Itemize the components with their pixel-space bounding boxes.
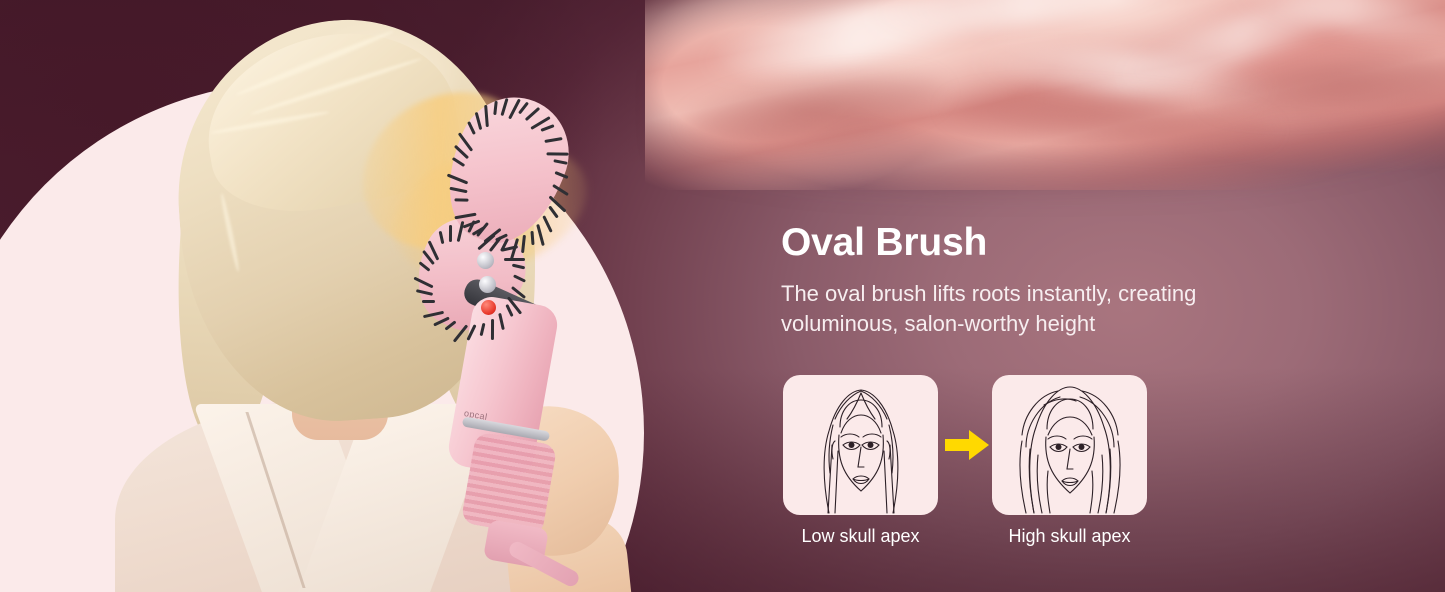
product-feature-banner: opcal Oval Brush The oval brush lifts ro…	[0, 0, 1445, 592]
brush-bristle	[422, 300, 435, 303]
face-card-high	[992, 375, 1147, 515]
brush-bristle	[531, 231, 535, 245]
heat-button[interactable]	[479, 276, 496, 293]
face-card-low	[783, 375, 938, 515]
brush-bristle	[449, 225, 452, 242]
product-image: opcal	[0, 0, 620, 592]
silk-fabric-image	[645, 0, 1445, 190]
face-low-apex-icon	[783, 375, 938, 515]
speed-button[interactable]	[477, 252, 494, 269]
brush-bristle	[537, 224, 546, 246]
brush-bristle	[491, 319, 494, 340]
skull-apex-comparison: Low skull apex	[783, 375, 1151, 560]
comparison-card-high: High skull apex	[992, 375, 1147, 547]
feature-description: The oval brush lifts roots instantly, cr…	[781, 279, 1271, 338]
face-high-apex-icon	[992, 375, 1147, 515]
brush-bristle	[521, 235, 526, 253]
arrow-right-icon	[943, 428, 991, 462]
page-title: Oval Brush	[781, 222, 1341, 265]
caption-high-apex: High skull apex	[992, 526, 1147, 547]
comparison-card-low: Low skull apex	[783, 375, 938, 547]
brush-bristle	[548, 205, 559, 218]
brush-bristle	[543, 215, 553, 233]
power-button[interactable]	[481, 300, 496, 315]
feature-text-block: Oval Brush The oval brush lifts roots in…	[781, 222, 1341, 338]
caption-low-apex: Low skull apex	[783, 526, 938, 547]
brush-bristle	[454, 199, 468, 202]
handle-air-vent	[461, 432, 558, 537]
brush-bristle	[547, 152, 569, 155]
